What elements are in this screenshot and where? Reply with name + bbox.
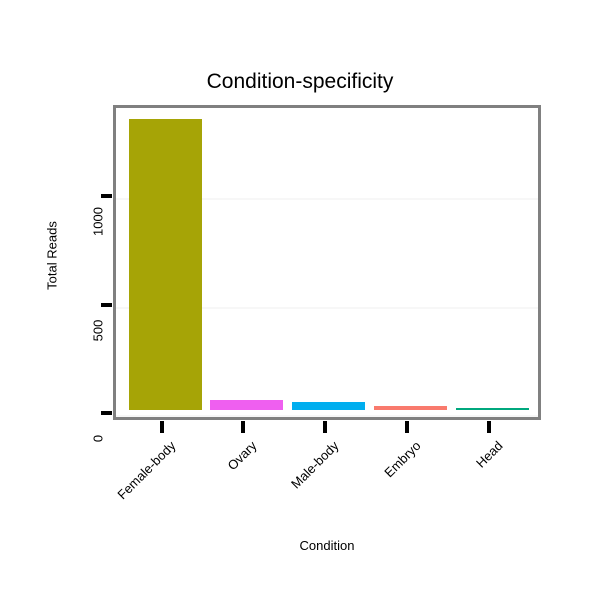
gridline [116,415,538,417]
y-axis-title: Total Reads [45,196,60,316]
bar-head [456,408,529,410]
bar-embryo [374,406,447,410]
plot-panel [113,105,541,420]
bar-female-body [129,119,202,410]
chart-figure: Condition-specificity Total Reads 050010… [0,0,600,600]
bar-ovary [210,400,283,410]
x-tick-label: Head [354,438,506,590]
bar-male-body [292,402,365,410]
x-tick-mark [487,421,491,433]
chart-title: Condition-specificity [0,70,600,94]
x-tick-label: Male-body [190,438,342,590]
plot-area [116,108,538,417]
x-tick-mark [160,421,164,433]
y-tick-label: 1000 [91,196,106,248]
y-tick-label: 500 [91,304,106,356]
x-tick-label: Embryo [272,438,424,590]
x-tick-mark [405,421,409,433]
x-tick-mark [241,421,245,433]
y-tick-label: 0 [91,413,106,465]
x-axis-title: Condition [113,538,541,553]
x-tick-label: Ovary [108,438,260,590]
x-tick-mark [323,421,327,433]
